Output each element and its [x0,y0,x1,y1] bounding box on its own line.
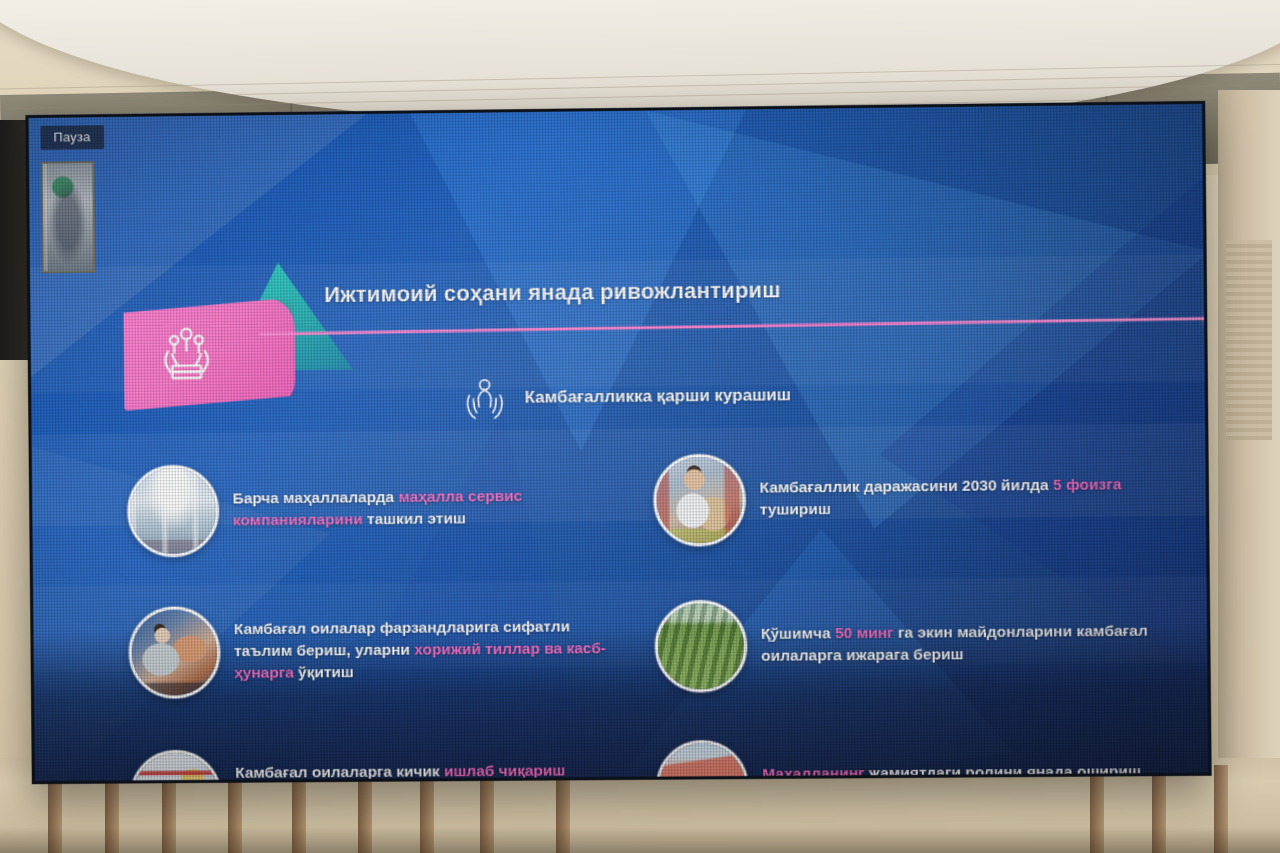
plain-text: тушириш [760,501,831,519]
highlighted-text: 50 минг [835,625,894,643]
thumbnail-farm-field [655,600,748,693]
plain-text: Барча маҳаллаларда [233,489,399,507]
list-item[interactable]: Камбағаллик даражасини 2030 йилда 5 фоиз… [653,450,1156,547]
hands-holding-person-icon [459,374,511,426]
list-item[interactable]: Қўшимча 50 минг га экин майдонларини кам… [655,596,1158,692]
slide-title: Ижтимоий соҳани янада ривожлантириш [324,277,781,308]
led-video-wall[interactable]: Ижтимоий соҳани янада ривожлантириш Камб… [25,101,1211,784]
item-text: Камбағал оилаларга кичик ишлаб чиқариш у… [235,760,618,781]
highlighted-text: 5 фоизга [1053,476,1122,494]
thumbnail-market-worker [653,454,746,547]
section-title: Камбағалликка қарши курашиш [525,385,791,408]
plain-text: ташкил этиш [363,510,466,528]
section-ribbon [123,297,295,410]
title-underline [259,317,1209,336]
thumbnail-industrial-worker [130,750,222,781]
air-vent [1226,240,1272,440]
item-text: Қўшимча 50 минг га экин майдонларини кам… [761,621,1157,668]
hands-holding-people-icon [153,320,219,386]
item-text: Камбағаллик даражасини 2030 йилда 5 фоиз… [759,474,1155,522]
list-item[interactable]: Камбағал оилалар фарзандларига сифатли т… [128,603,617,699]
plain-text: Қўшимча [761,625,835,643]
floor-shadow [0,827,1280,853]
presentation-screen: Ижтимоий соҳани янада ривожлантириш Камб… [28,104,1208,781]
plain-text: ўқитиш [294,664,354,681]
item-text: Камбағал оилалар фарзандларига сифатли т… [234,616,617,685]
thumbnail-mahalla-houses [656,740,749,781]
pause-badge[interactable]: Пауза [40,125,103,150]
plain-text: Камбағал оилаларга кичик [235,763,444,781]
list-item[interactable]: Барча маҳаллаларда маҳалла сервис компан… [127,461,616,557]
right-wall [1218,90,1280,790]
list-item[interactable]: Камбағал оилаларга кичик ишлаб чиқариш у… [130,747,619,781]
thumbnail-vocational-training [128,606,220,698]
thumbnail-pavilion [127,465,219,558]
item-text: Барча маҳаллаларда маҳалла сервис компан… [233,485,616,532]
list-item[interactable]: Маҳалланинг жамиятдаги ролини янада ошир… [656,737,1159,781]
plain-text: Камбағаллик даражасини 2030 йилда [759,477,1053,497]
slide-preview-thumbnail[interactable] [41,161,96,273]
